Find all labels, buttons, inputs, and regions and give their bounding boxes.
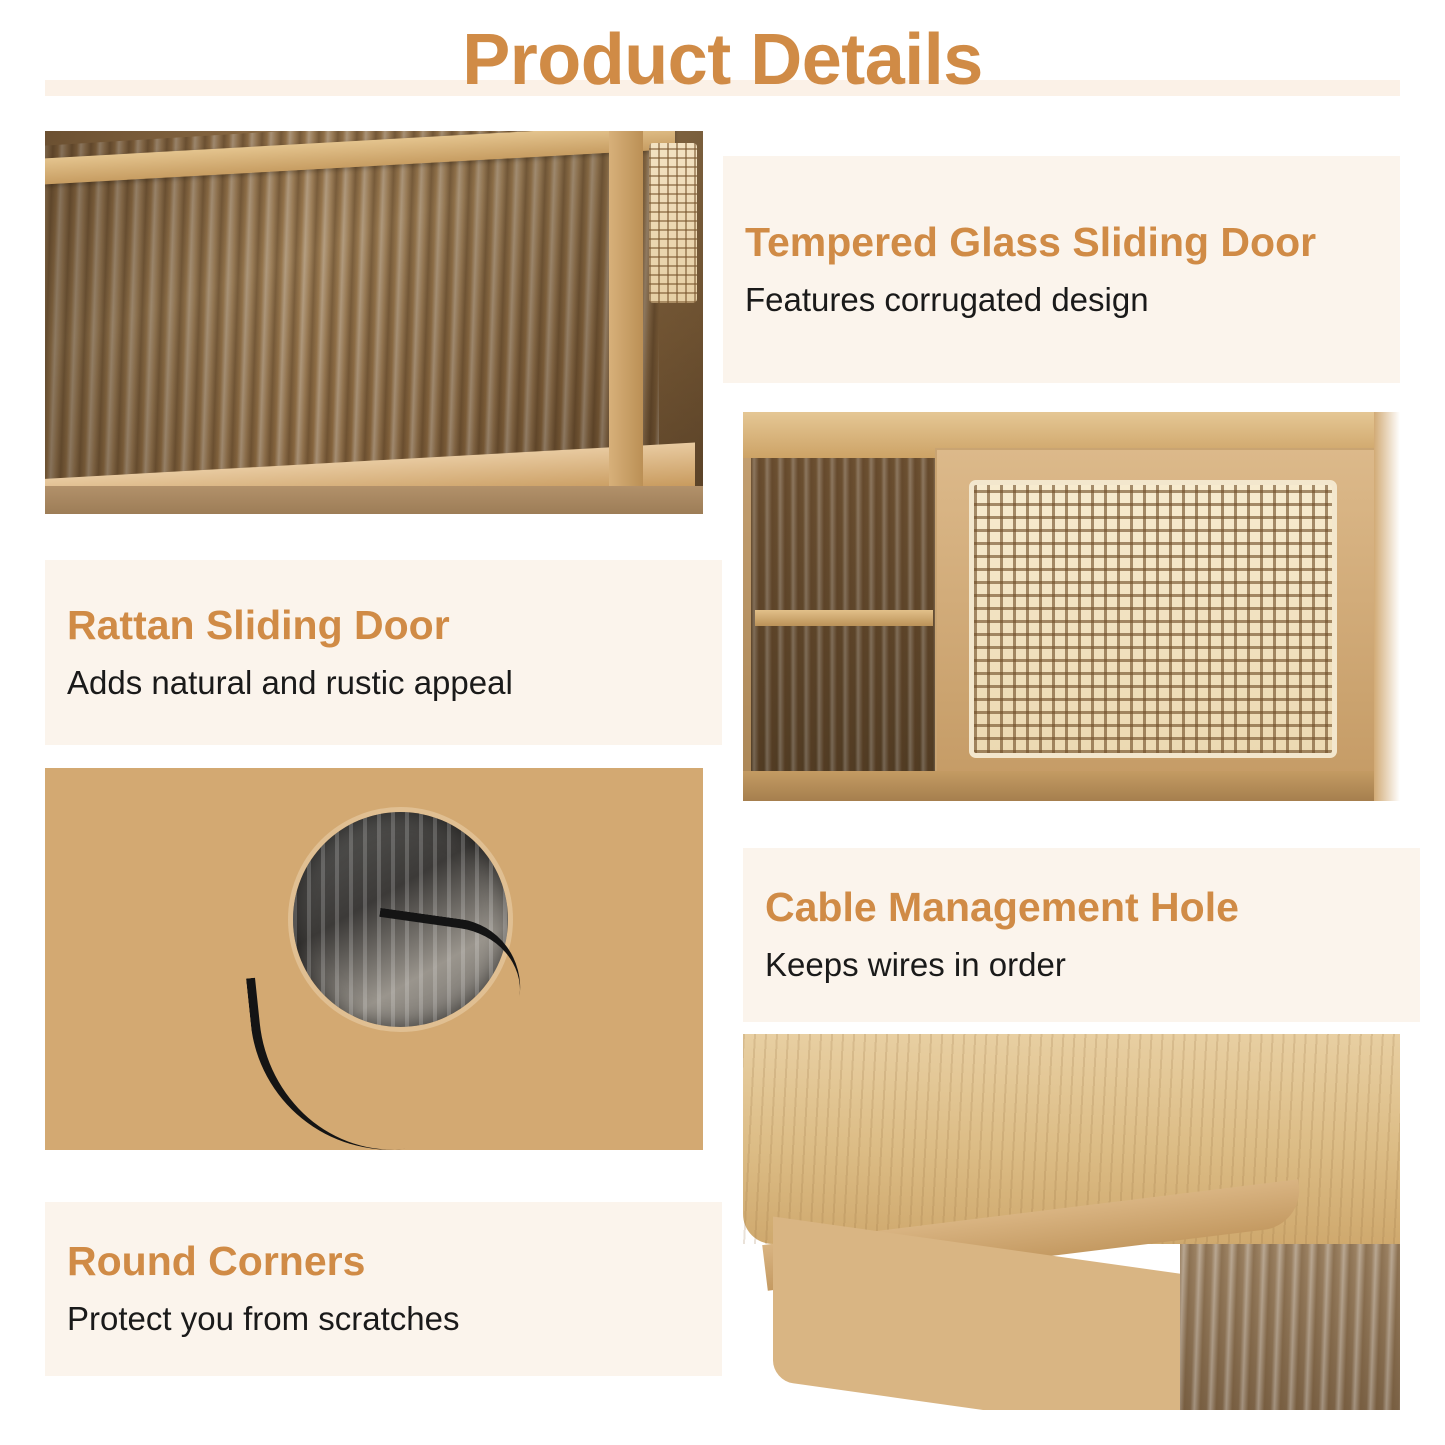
feature-text-rattan-sliding-door: Rattan Sliding Door Adds natural and rus… — [45, 560, 722, 745]
cabinet-side-post — [609, 131, 643, 514]
corrugated-glass-door-lower — [1180, 1244, 1400, 1410]
feature-heading: Rattan Sliding Door — [45, 603, 722, 649]
feature-image-rattan-sliding-door — [743, 412, 1400, 801]
feature-heading: Round Corners — [45, 1239, 722, 1285]
feature-heading: Cable Management Hole — [743, 885, 1420, 931]
feature-subtext: Features corrugated design — [723, 266, 1400, 320]
page-title: Product Details — [0, 24, 1445, 96]
cabinet-base-rail — [743, 771, 1400, 801]
feature-subtext: Keeps wires in order — [743, 931, 1420, 985]
rattan-panel-edge — [649, 143, 697, 303]
feature-text-cable-management-hole: Cable Management Hole Keeps wires in ord… — [743, 848, 1420, 1022]
feature-image-round-corners — [743, 1034, 1400, 1410]
feature-image-cable-management-hole — [45, 768, 703, 1150]
photo2-right-edge — [1374, 412, 1400, 801]
feature-subtext: Adds natural and rustic appeal — [45, 649, 722, 703]
interior-shelf — [755, 610, 933, 626]
feature-text-round-corners: Round Corners Protect you from scratches — [45, 1202, 722, 1376]
feature-text-tempered-glass-sliding-door: Tempered Glass Sliding Door Features cor… — [723, 156, 1400, 383]
feature-heading: Tempered Glass Sliding Door — [723, 220, 1400, 266]
page-header: Product Details — [0, 0, 1445, 118]
feature-image-tempered-glass-sliding-door — [45, 131, 703, 514]
feature-subtext: Protect you from scratches — [45, 1285, 722, 1339]
rattan-weave-panel — [969, 480, 1337, 758]
photo1-floor — [45, 486, 703, 514]
